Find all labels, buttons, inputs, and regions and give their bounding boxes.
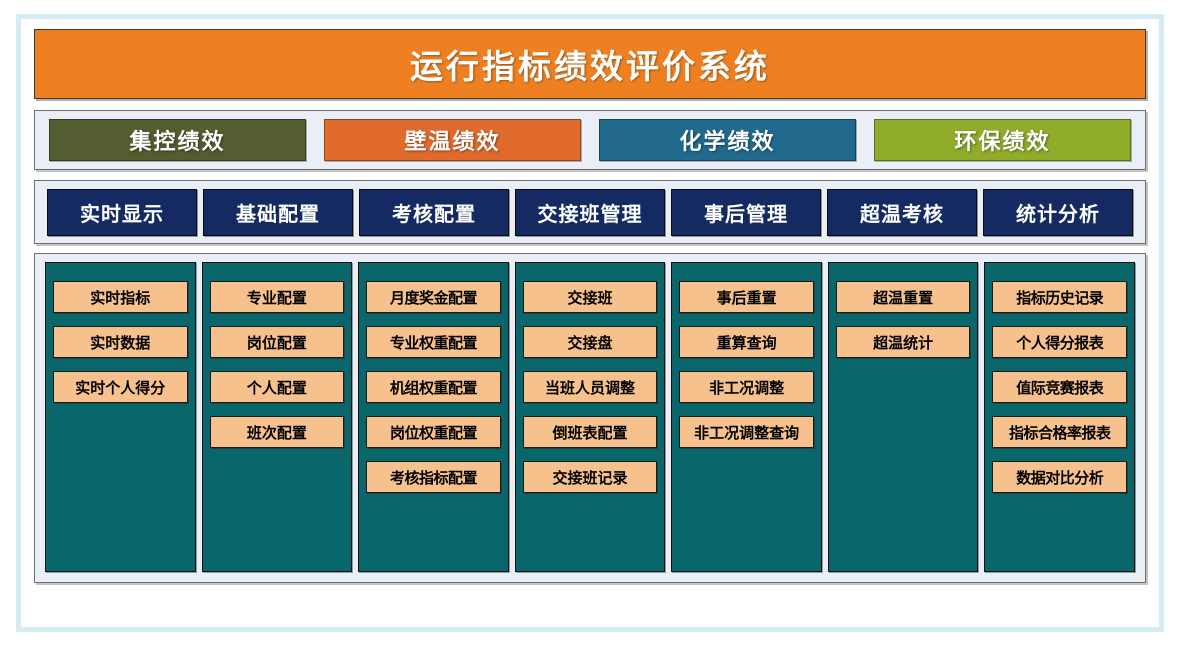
category-tab-label: 壁温绩效 [404, 124, 500, 156]
category-tab-jikong[interactable]: 集控绩效 [49, 119, 306, 161]
category-tab-huaxue[interactable]: 化学绩效 [599, 119, 856, 161]
feature-button[interactable]: 交接班记录 [523, 461, 658, 493]
category-tab-label: 化学绩效 [679, 124, 775, 156]
feature-button[interactable]: 交接盘 [523, 326, 658, 358]
category-tab-huanbao[interactable]: 环保绩效 [874, 119, 1131, 161]
nav-tab-realtime-display[interactable]: 实时显示 [47, 189, 197, 236]
application-frame: 运行指标绩效评价系统 集控绩效 壁温绩效 化学绩效 环保绩效 实时显示 基础配置… [16, 14, 1164, 632]
feature-button[interactable]: 指标合格率报表 [992, 416, 1127, 448]
feature-button[interactable]: 当班人员调整 [523, 371, 658, 403]
feature-button[interactable]: 机组权重配置 [366, 371, 501, 403]
feature-button[interactable]: 班次配置 [210, 416, 345, 448]
nav-tab-post-event-mgmt[interactable]: 事后管理 [671, 189, 821, 236]
feature-button[interactable]: 数据对比分析 [992, 461, 1127, 493]
feature-button[interactable]: 指标历史记录 [992, 281, 1127, 313]
feature-column-post-event-mgmt: 事后重置重算查询非工况调整非工况调整查询 [671, 262, 822, 572]
feature-button[interactable]: 月度奖金配置 [366, 281, 501, 313]
feature-button[interactable]: 值际竞赛报表 [992, 371, 1127, 403]
feature-button[interactable]: 实时个人得分 [53, 371, 188, 403]
feature-button[interactable]: 交接班 [523, 281, 658, 313]
nav-tab-label: 事后管理 [704, 198, 788, 227]
feature-button[interactable]: 事后重置 [679, 281, 814, 313]
feature-column-statistical-analysis: 指标历史记录个人得分报表值际竞赛报表指标合格率报表数据对比分析 [984, 262, 1135, 572]
nav-tab-label: 超温考核 [860, 198, 944, 227]
feature-button[interactable]: 非工况调整 [679, 371, 814, 403]
feature-button[interactable]: 非工况调整查询 [679, 416, 814, 448]
feature-column-basic-config: 专业配置岗位配置个人配置班次配置 [202, 262, 353, 572]
feature-button[interactable]: 个人得分报表 [992, 326, 1127, 358]
feature-button[interactable]: 倒班表配置 [523, 416, 658, 448]
feature-button[interactable]: 实时数据 [53, 326, 188, 358]
category-tab-label: 集控绩效 [129, 124, 225, 156]
app-title-banner: 运行指标绩效评价系统 [34, 29, 1146, 99]
feature-button[interactable]: 重算查询 [679, 326, 814, 358]
feature-column-shift-handover-mgmt: 交接班交接盘当班人员调整倒班表配置交接班记录 [515, 262, 666, 572]
feature-button[interactable]: 岗位权重配置 [366, 416, 501, 448]
feature-button[interactable]: 岗位配置 [210, 326, 345, 358]
nav-tab-shift-handover-mgmt[interactable]: 交接班管理 [515, 189, 665, 236]
category-tab-biwen[interactable]: 壁温绩效 [324, 119, 581, 161]
feature-button[interactable]: 专业权重配置 [366, 326, 501, 358]
nav-tab-basic-config[interactable]: 基础配置 [203, 189, 353, 236]
feature-button[interactable]: 专业配置 [210, 281, 345, 313]
feature-button[interactable]: 超温重置 [836, 281, 971, 313]
nav-tab-label: 基础配置 [236, 198, 320, 227]
feature-columns-panel: 实时指标实时数据实时个人得分 专业配置岗位配置个人配置班次配置 月度奖金配置专业… [34, 253, 1146, 583]
feature-button[interactable]: 个人配置 [210, 371, 345, 403]
category-tab-label: 环保绩效 [954, 124, 1050, 156]
page-title: 运行指标绩效评价系统 [410, 40, 770, 88]
nav-tab-assessment-config[interactable]: 考核配置 [359, 189, 509, 236]
feature-button[interactable]: 考核指标配置 [366, 461, 501, 493]
feature-column-overtemp-assessment: 超温重置超温统计 [828, 262, 979, 572]
nav-tab-label: 交接班管理 [538, 198, 643, 227]
feature-button[interactable]: 实时指标 [53, 281, 188, 313]
feature-button[interactable]: 超温统计 [836, 326, 971, 358]
nav-tab-label: 考核配置 [392, 198, 476, 227]
category-tab-bar: 集控绩效 壁温绩效 化学绩效 环保绩效 [34, 110, 1146, 170]
feature-column-realtime-display: 实时指标实时数据实时个人得分 [45, 262, 196, 572]
feature-column-assessment-config: 月度奖金配置专业权重配置机组权重配置岗位权重配置考核指标配置 [358, 262, 509, 572]
nav-tab-statistical-analysis[interactable]: 统计分析 [983, 189, 1133, 236]
nav-tab-label: 实时显示 [80, 198, 164, 227]
nav-tab-overtemp-assessment[interactable]: 超温考核 [827, 189, 977, 236]
navigation-tab-bar: 实时显示 基础配置 考核配置 交接班管理 事后管理 超温考核 统计分析 [34, 180, 1146, 244]
nav-tab-label: 统计分析 [1016, 198, 1100, 227]
